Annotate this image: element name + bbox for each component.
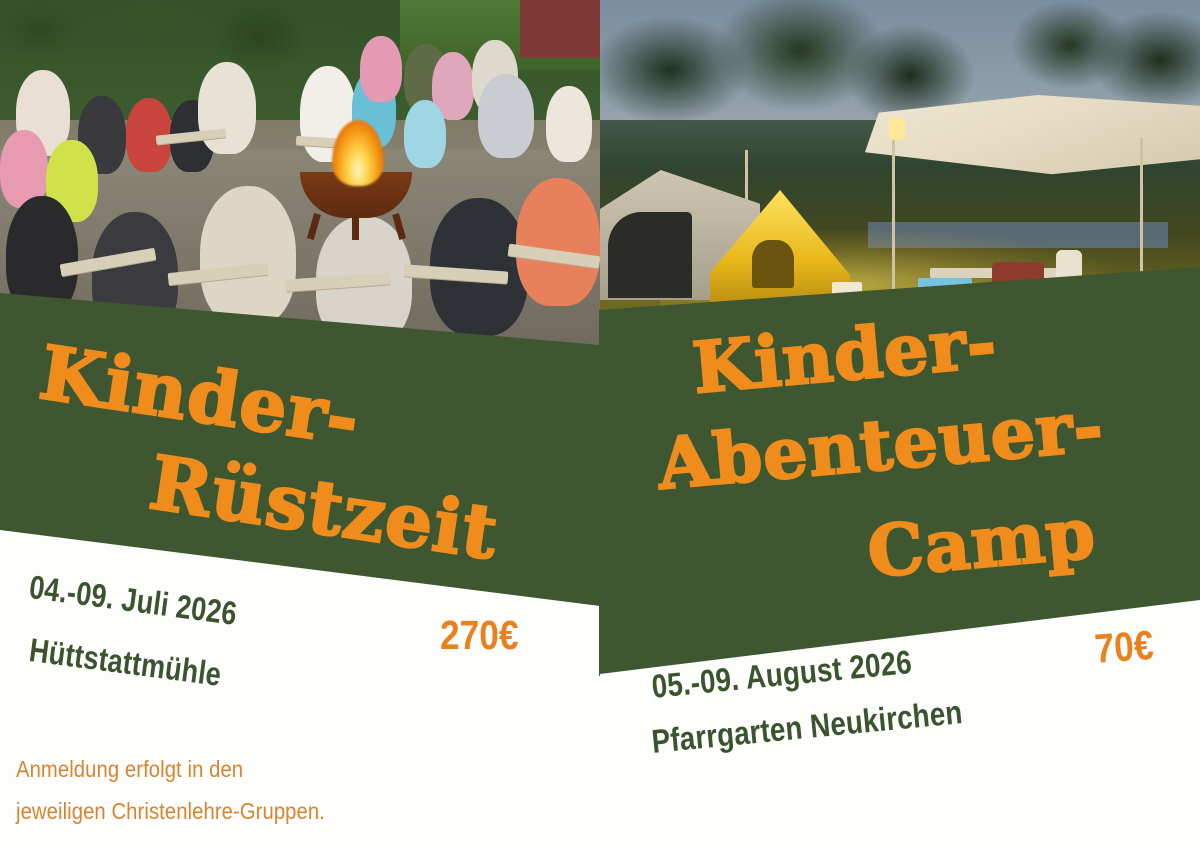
event-price-right: 70€ (1093, 622, 1155, 673)
child-figure (478, 74, 534, 158)
barn-wall (520, 0, 600, 58)
fire-bowl-legs (308, 214, 404, 240)
registration-note-line-2: jeweiligen Christenlehre-Gruppen. (16, 798, 325, 825)
tent-entrance-shadow (608, 212, 692, 298)
child-figure-foreground (200, 186, 296, 326)
poster-root: Kinder- Rüstzeit 04.-09. Juli 2026 Hütts… (0, 0, 1200, 849)
tarp-pole (892, 120, 895, 310)
child-figure (546, 86, 592, 162)
yellow-tent-entrance (752, 240, 794, 288)
child-figure (404, 100, 446, 168)
lantern (889, 118, 905, 140)
child-figure (360, 36, 402, 102)
child-figure-foreground (516, 178, 600, 306)
event-title-line-3-right: Camp (865, 498, 1098, 588)
registration-note-line-1: Anmeldung erfolgt in den (16, 756, 243, 783)
event-price-left: 270€ (440, 612, 518, 659)
child-figure (198, 62, 256, 154)
